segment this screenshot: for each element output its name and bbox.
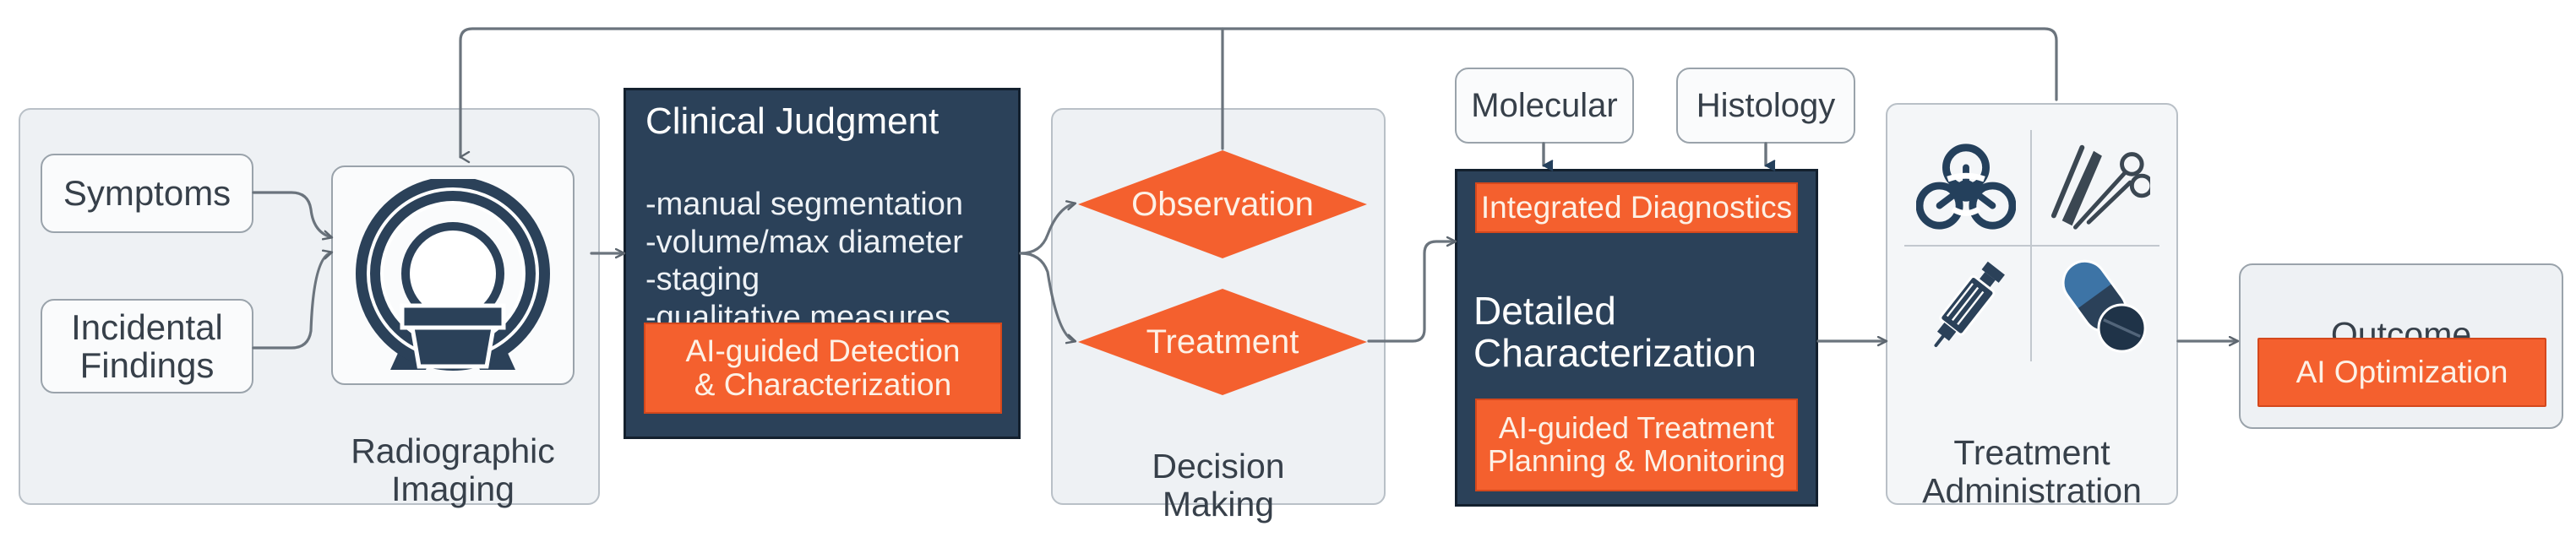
imaging-caption: Radiographic Imaging — [331, 395, 575, 507]
pills-icon — [2045, 255, 2150, 361]
chip-ai-guided-detection[interactable]: AI-guided Detection & Characterization — [644, 323, 1002, 414]
clinical-judgment-title: Clinical Judgment — [645, 101, 1009, 142]
syringe-icon — [1916, 254, 2016, 361]
quad-cell-surgical-instruments[interactable] — [2040, 135, 2156, 240]
quad-cell-syringe[interactable] — [1908, 255, 2024, 360]
chip-ai-guided-treatment[interactable]: AI-guided Treatment Planning & Monitorin… — [1475, 399, 1798, 491]
card-incidental-findings[interactable]: Incidental Findings — [41, 299, 253, 393]
treatment-administration-caption: Treatment Administration — [1886, 397, 2178, 509]
quad-cell-pills[interactable] — [2040, 255, 2156, 360]
chip-integrated-diagnostics[interactable]: Integrated Diagnostics — [1475, 182, 1798, 233]
incidental-findings-label: Incidental Findings — [71, 308, 223, 385]
biohazard-icon — [1916, 139, 2016, 236]
diamond-treatment[interactable]: Treatment — [1076, 287, 1369, 397]
workflow-diagram: Symptoms Incidental Findings Radiographi… — [0, 0, 2576, 537]
clinical-judgment-list: -manual segmentation -volume/max diamete… — [645, 149, 1014, 336]
ct-scanner-icon — [353, 179, 553, 375]
quad-divider-horizontal — [1904, 245, 2159, 247]
surgical-instruments-icon — [2045, 136, 2150, 240]
detailed-characterization-title: Detailed Characterization — [1473, 247, 1811, 375]
chip-ai-optimization[interactable]: AI Optimization — [2257, 338, 2546, 407]
card-molecular[interactable]: Molecular — [1455, 68, 1634, 144]
diamond-observation[interactable]: Observation — [1076, 149, 1369, 260]
card-symptoms[interactable]: Symptoms — [41, 154, 253, 233]
decision-making-caption: Decision Making — [1051, 410, 1386, 523]
symptoms-label: Symptoms — [63, 173, 231, 214]
treatment-icon-grid — [1899, 123, 2165, 368]
card-histology[interactable]: Histology — [1676, 68, 1855, 144]
quad-cell-biohazard[interactable] — [1908, 135, 2024, 240]
